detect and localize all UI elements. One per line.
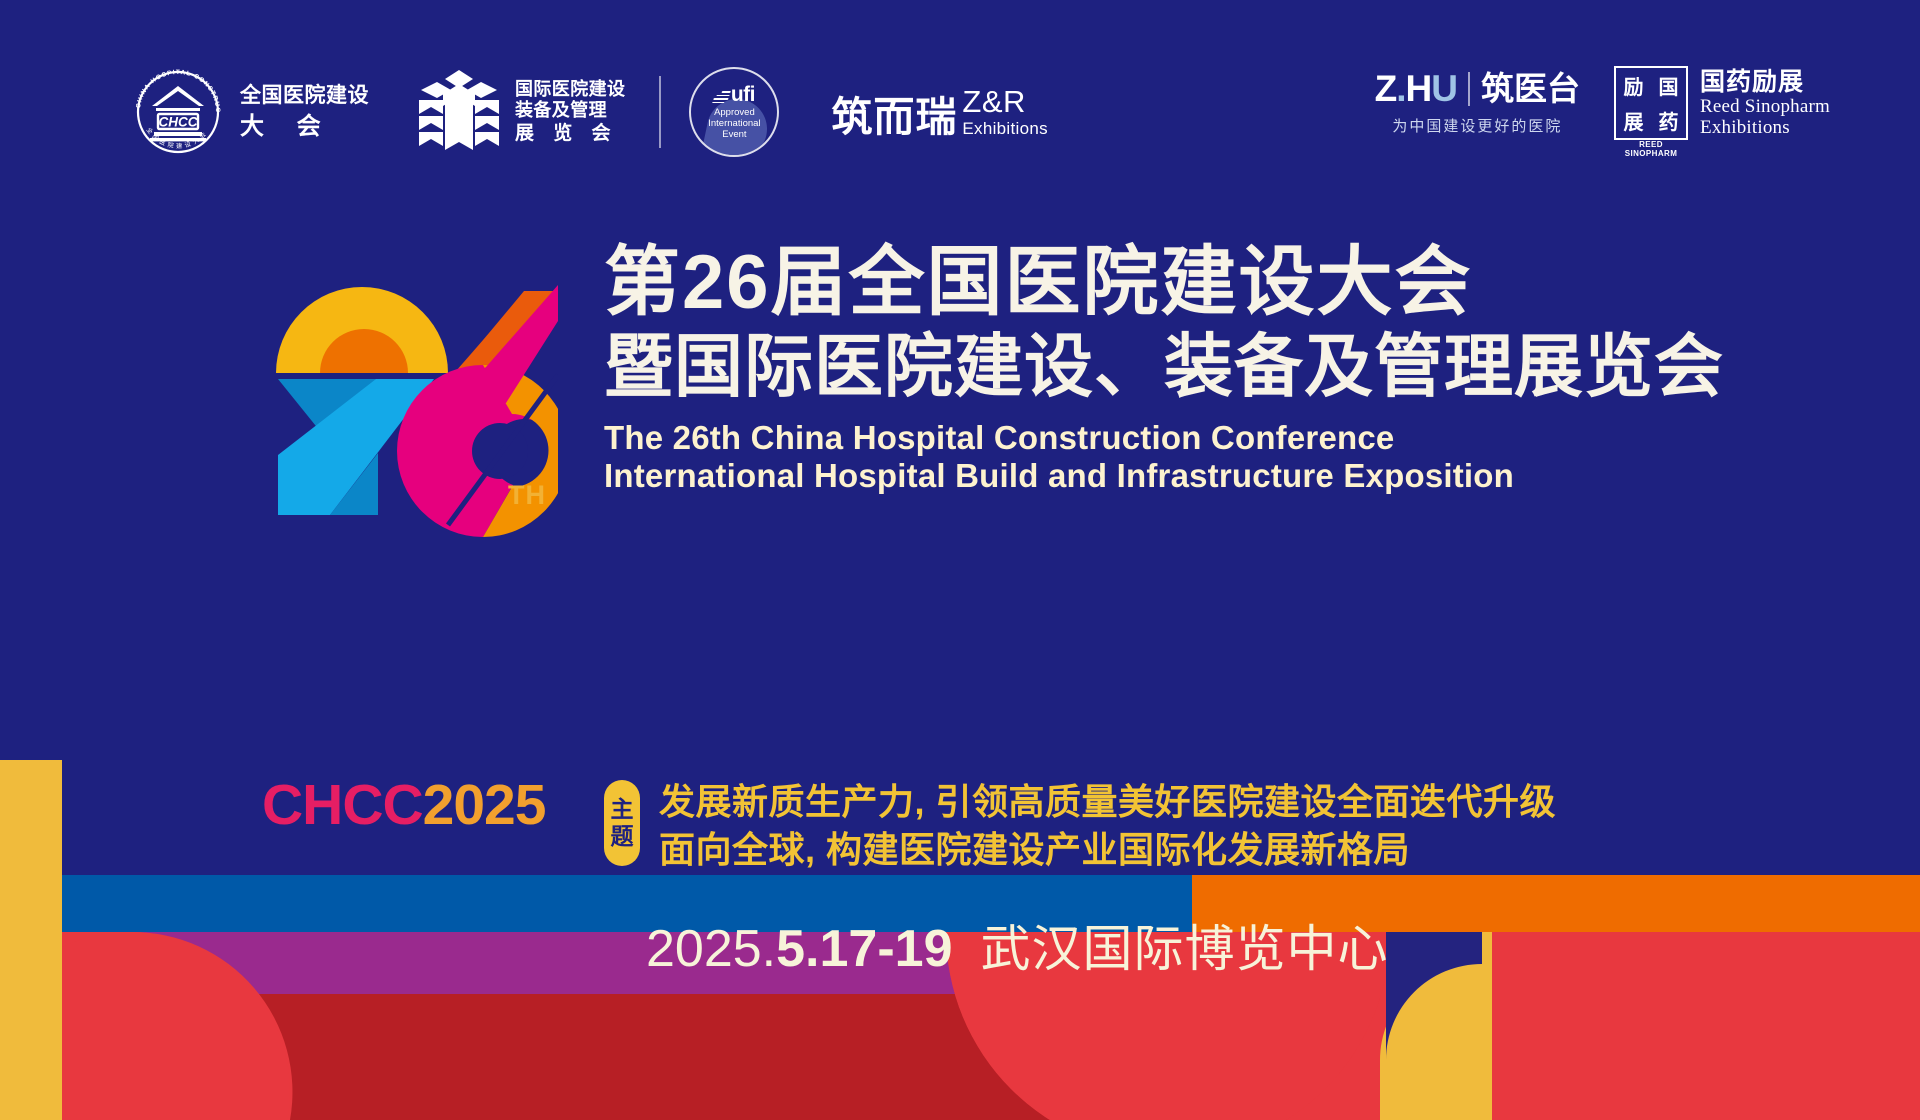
title-english-line1: The 26th China Hospital Construction Con… — [604, 419, 1864, 457]
chcc-seal-icon: CHINA HOSPITAL CONSTRUCTION CONFERENCE 全… — [128, 62, 228, 162]
zr-chinese: 筑而瑞 — [831, 97, 957, 138]
event-date-range: 5.17-19 — [776, 919, 952, 979]
poster-canvas: CHINA HOSPITAL CONSTRUCTION CONFERENCE 全… — [0, 0, 1920, 1120]
expo-logo: 国际医院建设 装备及管理 展 览 会 — [413, 66, 625, 158]
chcc-2025-wordmark: CHCC2025 — [262, 772, 545, 838]
reed-seal-char-1: 国 — [1651, 68, 1686, 103]
expo-line3: 展 览 会 — [515, 123, 625, 145]
title-chinese-line1: 第26届全国医院建设大会 — [604, 244, 1864, 322]
reed-chinese: 国药励展 — [1700, 68, 1830, 96]
chcc-line2: 大 会 — [240, 115, 369, 139]
title-chinese-line2: 暨国际医院建设、装备及管理展览会 — [604, 330, 1864, 403]
zhu-wordmark-row: Z . H U 筑医台 — [1375, 70, 1580, 107]
date-venue-bar: 2025. 5.17-19 武汉国际博览中心 — [646, 909, 1389, 981]
reed-english-2: Exhibitions — [1700, 117, 1830, 138]
zr-latin-main: Z&R — [962, 86, 1048, 117]
right-logo-group: Z . H U 筑医台 为中国建设更好的医院 励 国 展 药 REED SINO… — [1375, 66, 1830, 140]
ufi-sub2: International — [708, 118, 760, 129]
reed-seal-icon: 励 国 展 药 REED SINOPHARM — [1614, 66, 1688, 140]
reed-seal-char-3: 药 — [1651, 103, 1686, 138]
expo-line1: 国际医院建设 — [515, 79, 625, 100]
zhu-slogan: 为中国建设更好的医院 — [1392, 115, 1562, 136]
zhu-letter-z: Z — [1375, 70, 1397, 107]
ufi-word: ufi — [731, 86, 755, 104]
ufi-sub1: Approved — [708, 107, 760, 118]
ufi-sub3: Event — [708, 129, 760, 140]
zhu-letter-h: H — [1406, 70, 1432, 107]
zhu-divider — [1468, 72, 1470, 106]
left-logo-group: CHINA HOSPITAL CONSTRUCTION CONFERENCE 全… — [128, 62, 1048, 162]
theme-line-2: 面向全球, 构建医院建设产业国际化发展新格局 — [659, 826, 1556, 874]
theme-block: 主 题 发展新质生产力, 引领高质量美好医院建设全面迭代升级 面向全球, 构建医… — [604, 778, 1556, 874]
svg-text:CHINA HOSPITAL CONSTRUCTION CO: CHINA HOSPITAL CONSTRUCTION CONFERENCE — [128, 62, 221, 113]
title-block: 第26届全国医院建设大会 暨国际医院建设、装备及管理展览会 The 26th C… — [604, 244, 1864, 495]
reed-seal-char-2: 展 — [1616, 103, 1651, 138]
title-english-line2: International Hospital Build and Infrast… — [604, 457, 1864, 495]
ufi-approved-badge-icon: ufi Approved International Event — [689, 67, 779, 157]
theme-text: 发展新质生产力, 引领高质量美好医院建设全面迭代升级 面向全球, 构建医院建设产… — [659, 778, 1556, 874]
reed-logo-text: 国药励展 Reed Sinopharm Exhibitions — [1700, 68, 1830, 139]
reed-sinopharm-logo: 励 国 展 药 REED SINOPHARM 国药励展 Reed Sinopha… — [1614, 66, 1830, 140]
zr-latin: Z&R Exhibitions — [962, 86, 1048, 137]
reed-seal-caption: REED SINOPHARM — [1614, 140, 1688, 158]
ufi-wordmark: ufi — [714, 86, 755, 104]
zhu-chinese: 筑医台 — [1481, 72, 1580, 105]
chcc-line1: 全国医院建设 — [240, 85, 369, 106]
chcc-logo-text: 全国医院建设 大 会 — [240, 85, 369, 139]
reed-seal-char-0: 励 — [1616, 68, 1651, 103]
zr-exhibitions-logo: 筑而瑞 Z&R Exhibitions — [831, 86, 1048, 138]
event-venue: 武汉国际博览中心 — [981, 909, 1389, 981]
theme-badge-char-2: 题 — [611, 823, 634, 850]
theme-line-1: 发展新质生产力, 引领高质量美好医院建设全面迭代升级 — [659, 778, 1556, 826]
ufi-subtext: Approved International Event — [708, 107, 760, 141]
svg-text:CHCC: CHCC — [159, 115, 198, 130]
expo-snowflake-icon — [413, 66, 505, 158]
theme-badge-char-1: 主 — [611, 796, 634, 823]
zr-latin-sub: Exhibitions — [962, 120, 1048, 137]
expo-logo-text: 国际医院建设 装备及管理 展 览 会 — [515, 79, 625, 145]
chcc-brand-prefix: CHCC — [262, 773, 423, 837]
zhu-dot: . — [1396, 70, 1405, 107]
event-year: 2025. — [646, 919, 776, 979]
expo-line2: 装备及管理 — [515, 100, 625, 121]
edition-th-suffix: TH — [508, 480, 546, 511]
chcc-brand-year: 2025 — [423, 773, 546, 837]
header-divider — [659, 76, 661, 148]
theme-badge: 主 题 — [604, 780, 640, 866]
logo-header-bar: CHINA HOSPITAL CONSTRUCTION CONFERENCE 全… — [0, 0, 1920, 195]
zhuyitai-logo: Z . H U 筑医台 为中国建设更好的医院 — [1375, 70, 1580, 136]
zhu-letter-u: U — [1431, 70, 1457, 107]
ufi-speed-lines-icon — [712, 91, 731, 103]
reed-english-1: Reed Sinopharm — [1700, 96, 1830, 117]
